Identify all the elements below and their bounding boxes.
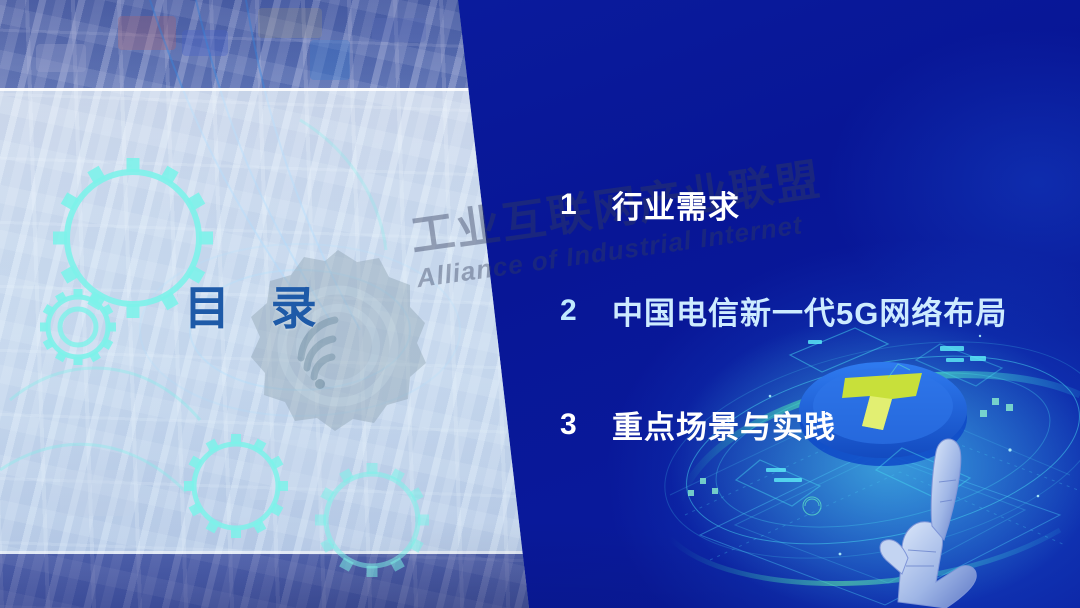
toc-item-3-number: 3 bbox=[560, 408, 612, 442]
toc-item-2[interactable]: 2 中国电信新一代5G网络布局 bbox=[560, 288, 1007, 333]
toc-item-1[interactable]: 1 行业需求 bbox=[560, 182, 740, 227]
slide-root: 目 录 工业互联网产业联盟 Alliance of Industrial Int… bbox=[0, 0, 1080, 608]
toc-item-3-label: 重点场景与实践 bbox=[612, 402, 836, 447]
toc-item-2-number: 2 bbox=[560, 294, 612, 328]
left-photo-panel: 目 录 bbox=[0, 0, 540, 608]
toc-item-3[interactable]: 3 重点场景与实践 bbox=[560, 402, 836, 447]
gear-medium-icon bbox=[184, 434, 288, 538]
page-title: 目 录 bbox=[184, 272, 331, 338]
toc-item-1-number: 1 bbox=[560, 188, 612, 222]
toc-item-1-label: 行业需求 bbox=[612, 182, 740, 227]
gear-faint-icon bbox=[315, 463, 429, 577]
toc-item-2-label: 中国电信新一代5G网络布局 bbox=[612, 288, 1007, 333]
toc-list: 1 行业需求 2 中国电信新一代5G网络布局 3 重点场景与实践 bbox=[556, 0, 1080, 608]
